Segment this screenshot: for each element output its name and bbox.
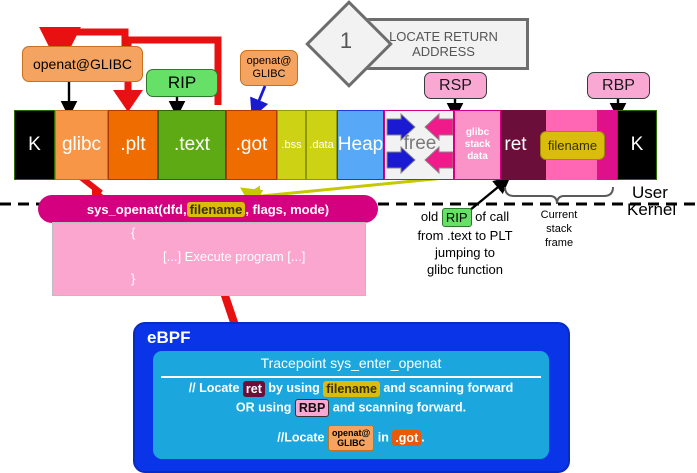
rsp-box[interactable]: RSP xyxy=(424,72,487,99)
tracepoint-line-1: // Locate ret by using filename and scan… xyxy=(153,380,549,397)
line2-a: OR using xyxy=(236,400,295,414)
syscall-signature-bar: sys_openat(dfd, filename , flags, mode) xyxy=(38,195,378,223)
memory-segment-label: glibc stack data xyxy=(465,127,491,163)
memory-segment-free: free xyxy=(384,110,454,180)
ebpf-title: eBPF xyxy=(147,328,190,348)
rbp-box[interactable]: RBP xyxy=(587,72,650,99)
line3-b: in xyxy=(374,430,392,444)
rbp-chip: RBP xyxy=(295,399,329,417)
tracepoint-divider xyxy=(161,376,541,378)
memory-segment-got: .got xyxy=(226,110,277,180)
line2-b: and scanning forward. xyxy=(329,400,466,414)
line3-c: . xyxy=(421,430,424,444)
memory-segment-label: free xyxy=(385,133,454,155)
tracepoint-panel: Tracepoint sys_enter_openat // Locate re… xyxy=(153,351,549,459)
old-rip-chip: RIP xyxy=(442,208,472,227)
memory-segment-label: ret xyxy=(504,134,526,156)
memory-segment-label: .plt xyxy=(120,134,145,156)
memory-segment-heap: Heap xyxy=(337,110,384,180)
filename-chip: filename xyxy=(323,381,380,397)
memory-segment-label: .got xyxy=(236,134,268,156)
memory-segment-label: K xyxy=(631,134,644,156)
memory-segment-label: K xyxy=(28,134,41,156)
kernel-label: Kernel xyxy=(627,200,676,220)
memory-segment-label: Heap xyxy=(338,134,383,156)
line3-a: //Locate xyxy=(277,430,328,444)
ret-chip: ret xyxy=(243,381,265,397)
syscall-sig-post: , flags, mode) xyxy=(245,202,329,217)
got-chip: .got xyxy=(392,430,421,446)
memory-segment-data: .data xyxy=(306,110,337,180)
memory-segment-plt: .plt xyxy=(108,110,158,180)
memory-segment-glibc: glibc xyxy=(55,110,108,180)
old-rip-line-2: from .text to PLT xyxy=(390,227,540,244)
old-rip-post: of call xyxy=(472,209,510,224)
memory-segment-k: K xyxy=(617,110,657,180)
openat-glibc-box-got[interactable]: openat@ GLIBC xyxy=(240,50,298,86)
blue-arrow-got xyxy=(256,86,265,108)
ebpf-panel: eBPF Tracepoint sys_enter_openat // Loca… xyxy=(133,322,570,473)
memory-segment-label: .text xyxy=(174,134,210,156)
line1-a: // Locate xyxy=(189,381,243,395)
rip-box[interactable]: RIP xyxy=(146,69,218,97)
tracepoint-line-2: OR using RBP and scanning forward. xyxy=(153,399,549,417)
memory-segment-label: glibc xyxy=(62,134,101,156)
openat-glibc-box-left[interactable]: openat@GLIBC xyxy=(22,46,143,82)
memory-segment-text: .text xyxy=(158,110,226,180)
syscall-filename-arg: filename xyxy=(187,202,246,217)
current-stack-frame-brace xyxy=(505,187,613,204)
syscall-body: { [...] Execute program [...] } xyxy=(52,222,366,296)
red-arrowhead-plt xyxy=(113,90,143,112)
old-rip-line-1: old RIP of call xyxy=(390,208,540,227)
step-callout-number: 1 xyxy=(318,13,374,69)
old-rip-pre: old xyxy=(421,209,442,224)
tracepoint-line-3: //Locate openat@ GLIBC in .got. xyxy=(153,425,549,451)
syscall-sig-pre: sys_openat(dfd, xyxy=(87,202,187,217)
memory-segment-k: K xyxy=(14,110,55,180)
tracepoint-title: Tracepoint sys_enter_openat xyxy=(153,355,549,371)
memory-segment-label: .data xyxy=(309,139,333,151)
syscall-body-text: [...] Execute program [...] xyxy=(163,249,305,264)
syscall-brace-open: { xyxy=(131,225,135,240)
memory-segment-glibc-stack-data: glibc stack data xyxy=(454,110,501,180)
syscall-brace-close: } xyxy=(131,271,135,286)
old-rip-line-4: glibc function xyxy=(390,261,540,278)
old-rip-line-3: jumping to xyxy=(390,244,540,261)
stack-filename-chip: filename xyxy=(540,131,605,160)
step-callout: LOCATE RETURN ADDRESS 1 xyxy=(318,10,523,72)
memory-segment-label: .bss xyxy=(281,139,301,151)
line1-b: by using xyxy=(265,381,323,395)
line1-c: and scanning forward xyxy=(380,381,513,395)
old-rip-annotation: old RIP of call from .text to PLT jumpin… xyxy=(390,208,540,278)
memory-segment-bss: .bss xyxy=(277,110,306,180)
current-stack-frame-label: Current stack frame xyxy=(519,208,599,250)
openat-glibc-chip: openat@ GLIBC xyxy=(328,425,374,451)
